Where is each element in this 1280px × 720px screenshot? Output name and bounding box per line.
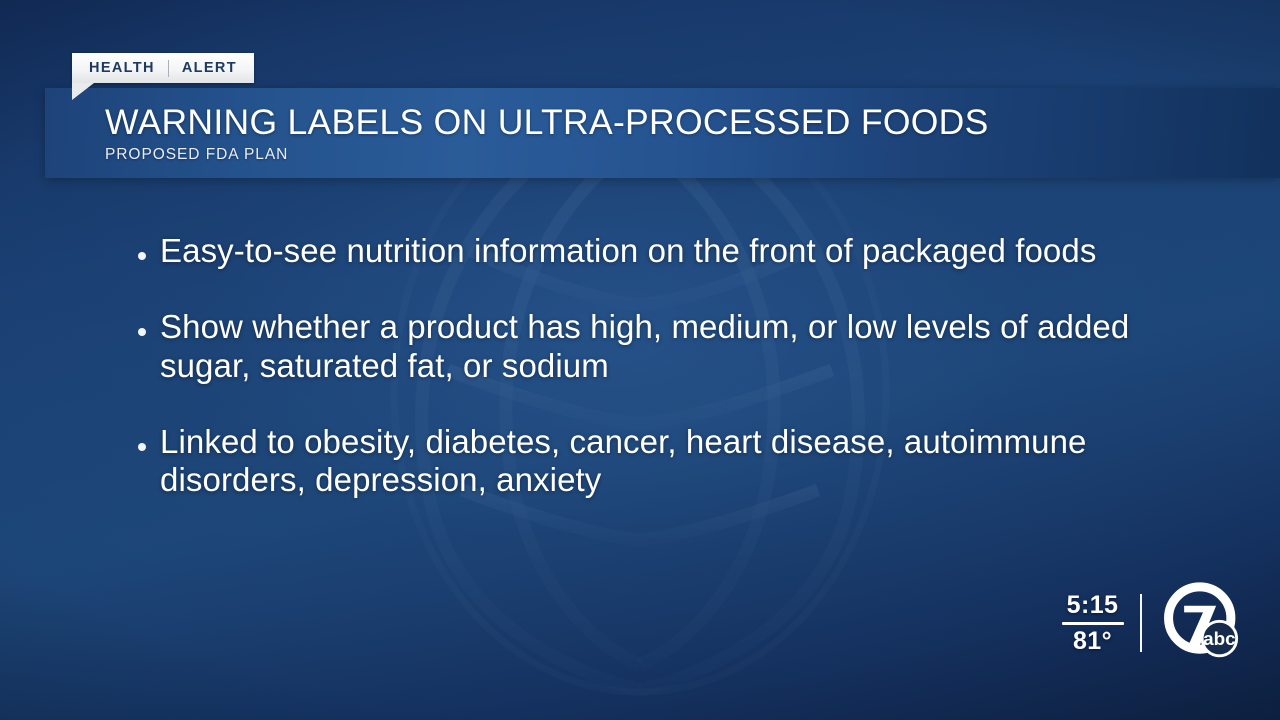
bullet-dot-icon (138, 443, 146, 451)
bug-vertical-divider (1140, 594, 1143, 652)
bullet-dot-icon (138, 252, 146, 260)
list-item-text: Show whether a product has high, medium,… (160, 308, 1198, 385)
news-lower-third-fullscreen-graphic: HEALTH ALERT WARNING LABELS ON ULTRA-PRO… (0, 0, 1280, 720)
station-logo-7abc: abc (1162, 582, 1244, 664)
list-item-text: Easy-to-see nutrition information on the… (160, 232, 1096, 270)
kicker-box: HEALTH ALERT (72, 53, 254, 83)
time-temperature-block: 5:15 81° (1062, 592, 1124, 654)
kicker-tail-triangle (72, 83, 94, 100)
abc-wordmark: abc (1203, 628, 1236, 649)
page-subtitle: PROPOSED FDA PLAN (105, 147, 1280, 163)
page-title: WARNING LABELS ON ULTRA-PROCESSED FOODS (105, 104, 1280, 141)
bullet-list: Easy-to-see nutrition information on the… (138, 232, 1198, 499)
time-temp-rule (1062, 622, 1124, 625)
list-item: Linked to obesity, diabetes, cancer, hea… (138, 423, 1198, 500)
kicker-label-health: HEALTH (89, 61, 155, 76)
station-bug: 5:15 81° abc (1062, 582, 1245, 664)
list-item-text: Linked to obesity, diabetes, cancer, hea… (160, 423, 1198, 500)
kicker-label-alert: ALERT (182, 61, 237, 76)
bullet-dot-icon (138, 328, 146, 336)
temperature-reading: 81° (1073, 628, 1112, 654)
list-item: Easy-to-see nutrition information on the… (138, 232, 1198, 270)
list-item: Show whether a product has high, medium,… (138, 308, 1198, 385)
title-bar: WARNING LABELS ON ULTRA-PROCESSED FOODS … (45, 88, 1280, 178)
kicker-tag: HEALTH ALERT (72, 53, 254, 83)
kicker-divider (168, 60, 169, 77)
clock-time: 5:15 (1067, 592, 1119, 618)
